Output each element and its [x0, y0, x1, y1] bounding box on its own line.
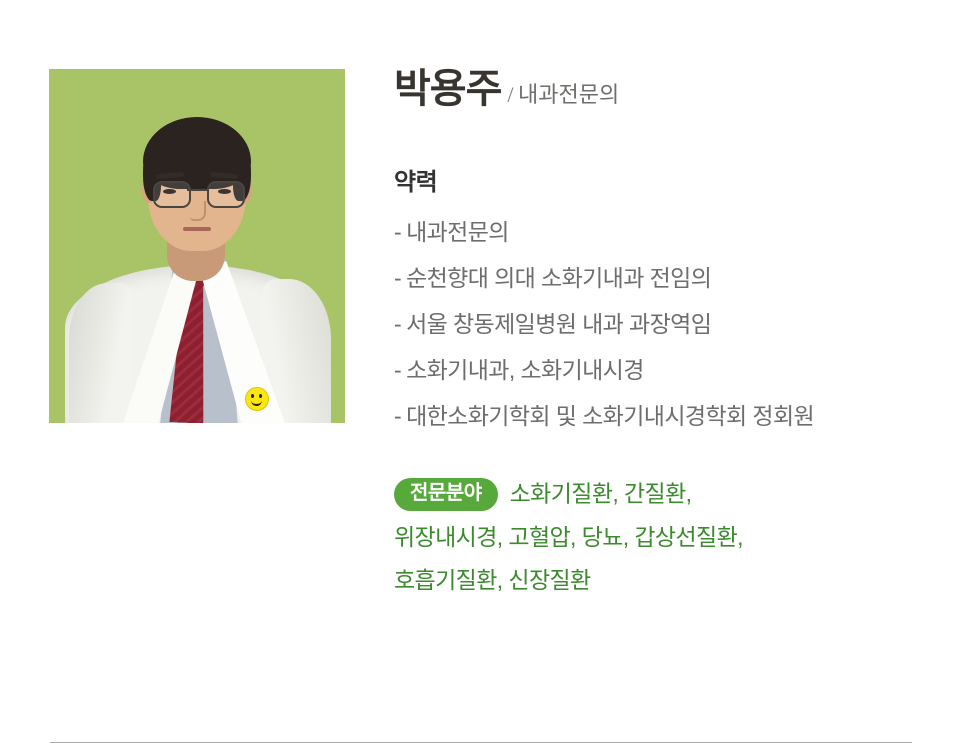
list-item: -소화기내과, 소화기내시경 — [394, 347, 911, 393]
mouth — [183, 227, 211, 231]
career-item-text: 대한소화기학회 및 소화기내시경학회 정회원 — [406, 403, 814, 429]
eyeglasses-bridge — [187, 189, 207, 191]
bullet-dash: - — [394, 403, 401, 429]
career-item-text: 소화기내과, 소화기내시경 — [406, 357, 644, 383]
eyeglasses-lens-left — [153, 181, 191, 208]
smiley-pin-icon — [245, 387, 269, 411]
doctor-role: 내과전문의 — [518, 82, 619, 107]
list-item: -순천향대 의대 소화기내과 전임의 — [394, 255, 911, 301]
specialty-text-1: 소화기질환, 간질환, — [510, 481, 692, 507]
career-item-text: 순천향대 의대 소화기내과 전임의 — [406, 265, 711, 291]
career-item-text: 서울 창동제일병원 내과 과장역임 — [406, 311, 711, 337]
specialty-block: 전문분야소화기질환, 간질환, 위장내시경, 고혈압, 당뇨, 갑상선질환, 호… — [394, 471, 894, 601]
doctor-name-row: 박용주/ 내과전문의 — [394, 69, 914, 109]
list-item: -내과전문의 — [394, 209, 911, 255]
list-item: -서울 창동제일병원 내과 과장역임 — [394, 301, 911, 347]
career-item-text: 내과전문의 — [406, 219, 509, 245]
specialty-text-3: 호흡기질환, 신장질환 — [394, 559, 894, 602]
status-badge: 전문분야 — [394, 478, 498, 511]
doctor-figure — [49, 69, 345, 423]
bullet-dash: - — [394, 311, 401, 337]
bullet-dash: - — [394, 219, 401, 245]
doctor-portrait-photo — [49, 69, 345, 423]
doctor-name: 박용주 — [394, 66, 501, 111]
doctor-info-column: 박용주/ 내과전문의 약력 -내과전문의 -순천향대 의대 소화기내과 전임의 … — [394, 69, 914, 602]
doctor-profile-card: 박용주/ 내과전문의 약력 -내과전문의 -순천향대 의대 소화기내과 전임의 … — [0, 0, 960, 748]
bottom-divider — [50, 742, 912, 743]
bullet-dash: - — [394, 265, 401, 291]
specialty-text-2: 위장내시경, 고혈압, 당뇨, 갑상선질환, — [394, 516, 894, 559]
smiley-mouth — [251, 398, 262, 406]
nose — [190, 201, 206, 221]
list-item: -대한소화기학회 및 소화기내시경학회 정회원 — [394, 393, 911, 439]
name-separator: / — [507, 82, 513, 107]
lab-coat-shoulder-left — [69, 283, 133, 423]
specialty-line-1: 전문분야소화기질환, 간질환, — [394, 471, 894, 515]
career-list: -내과전문의 -순천향대 의대 소화기내과 전임의 -서울 창동제일병원 내과 … — [394, 209, 914, 439]
eyeglasses-lens-right — [207, 181, 245, 208]
bullet-dash: - — [394, 357, 401, 383]
career-heading: 약력 — [394, 170, 914, 196]
